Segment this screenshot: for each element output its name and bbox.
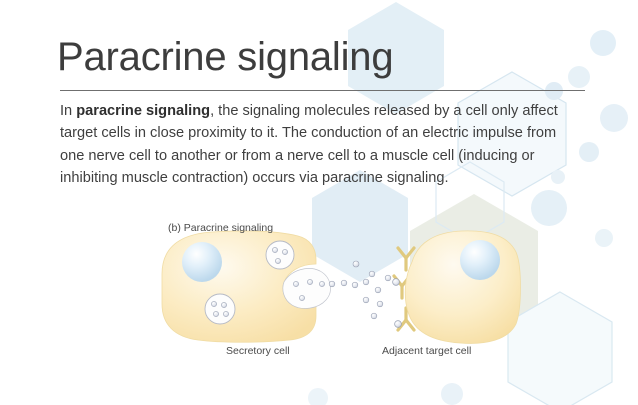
target-cell-body <box>405 231 520 344</box>
page-title: Paracrine signaling <box>57 34 393 80</box>
target-cell-nucleus <box>460 240 500 280</box>
bound-molecule-1 <box>393 279 400 286</box>
body-text-bold: paracrine signaling <box>76 103 210 119</box>
secretory-cell-nucleus <box>182 242 222 282</box>
exocytosis-pocket <box>283 268 331 308</box>
circle-decor-br-1 <box>531 190 567 226</box>
circle-decor-mr-2 <box>579 142 599 162</box>
circle-decor-left-low <box>308 388 328 405</box>
slide-canvas: Paracrine signaling In paracrine signali… <box>0 0 638 405</box>
secretory-cell <box>162 231 331 342</box>
body-text-prefix: In <box>60 103 76 119</box>
adjacent-target-cell <box>393 231 521 344</box>
circle-decor-tr-1 <box>590 30 616 56</box>
circle-decor-br-2 <box>595 229 613 247</box>
paracrine-signaling-figure: (b) Paracrine signaling Secretory cell A… <box>150 212 530 387</box>
signaling-molecules <box>329 261 391 319</box>
body-paragraph: In paracrine signaling, the signaling mo… <box>60 100 560 189</box>
figure-illustration <box>150 212 530 387</box>
circle-decor-mr-1 <box>600 104 628 132</box>
figure-caption: (b) Paracrine signaling <box>168 222 273 234</box>
label-adjacent-target-cell: Adjacent target cell <box>382 345 471 357</box>
vesicle-top <box>266 241 294 269</box>
bound-molecule-2 <box>395 321 402 328</box>
vesicle-lower <box>205 294 235 324</box>
title-divider <box>60 90 585 91</box>
circle-decor-tr-2 <box>568 66 590 88</box>
circle-decor-tr-3 <box>545 82 563 100</box>
label-secretory-cell: Secretory cell <box>226 345 290 357</box>
